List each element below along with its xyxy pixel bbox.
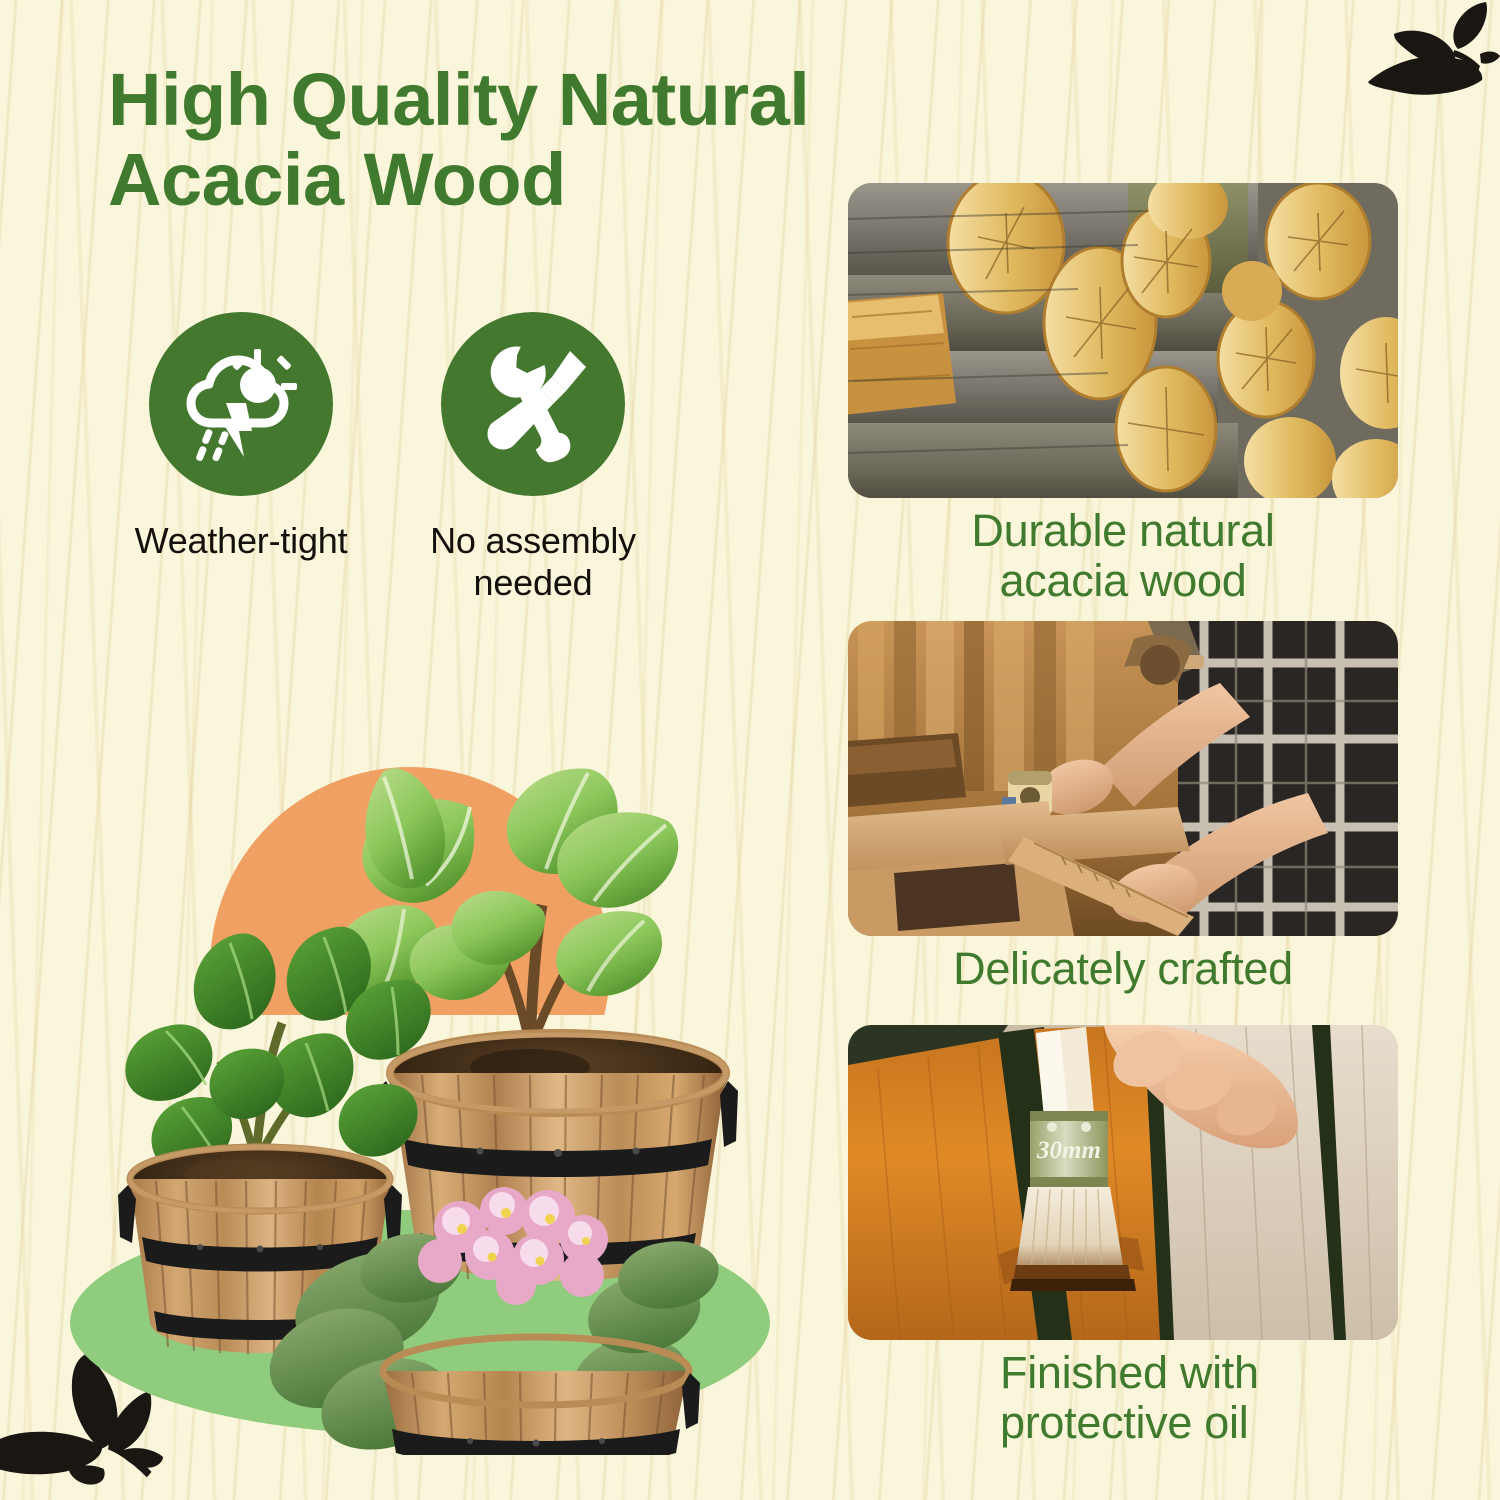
caption-line-1: Finished with [1000,1347,1259,1398]
feature-icon-badge [441,312,625,496]
photo-card-protective-oil: 30mm [848,1025,1398,1340]
stacked-cut-logs-photo [848,183,1398,498]
page-title: High Quality Natural Acacia Wood [108,60,868,220]
photo-card-durable-wood [848,183,1398,498]
card-caption-delicately-crafted: Delicately crafted [848,944,1398,994]
caption-line-2: protective oil [1000,1397,1248,1448]
headline-line-2: Acacia Wood [108,140,868,220]
card-caption-durable-wood: Durable natural acacia wood [848,506,1398,607]
caption-line-1: Delicately crafted [953,943,1293,994]
product-hero [60,755,820,1455]
caption-line-2: acacia wood [1000,555,1247,606]
feature-label-line-2: needed [474,562,593,603]
photo-card-delicately-crafted [848,621,1398,936]
leaf-sprig-icon [1354,0,1500,144]
brush-size-label: 30mm [1036,1137,1101,1164]
weather-cloud-sun-rain-lightning-icon [182,345,300,463]
feature-weather-tight: Weather-tight [126,312,356,605]
feature-label-line-1: No assembly [430,520,636,561]
feature-icon-badge [149,312,333,496]
wrench-screwdriver-icon [474,345,592,463]
feature-label: No assembly needed [430,520,636,605]
headline-line-1: High Quality Natural [108,58,809,141]
feature-label: Weather-tight [135,520,348,562]
feature-label-line-1: Weather-tight [135,520,348,561]
caption-line-1: Durable natural [971,505,1274,556]
feature-no-assembly: No assembly needed [418,312,648,605]
carpenter-measuring-wood-photo [848,621,1398,936]
brushing-protective-oil-on-deck-photo: 30mm [848,1025,1398,1340]
feature-badge-list: Weather-tight No assembly n [126,312,686,605]
three-acacia-barrel-planters-with-plants-photo [60,755,820,1455]
infographic-canvas: High Quality Natural Acacia Wood [0,0,1500,1500]
card-caption-protective-oil: Finished with protective oil [1000,1348,1420,1449]
